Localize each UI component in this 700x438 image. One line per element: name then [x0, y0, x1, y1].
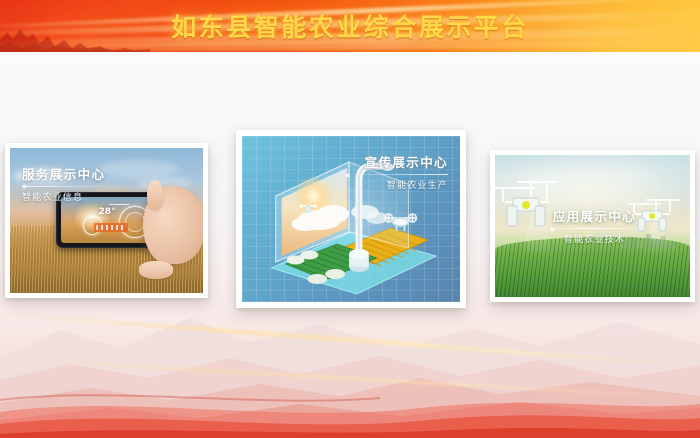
- caption-divider: [22, 186, 108, 187]
- finger-shape: [147, 180, 163, 210]
- card-application-display-center[interactable]: 应用展示中心 智能农业技术: [490, 150, 695, 302]
- card-application-caption: 应用展示中心 智能农业技术: [545, 206, 645, 245]
- caption-dot-marker: [346, 174, 349, 177]
- hud-bar-indicator: [109, 204, 129, 206]
- finger-shape: [139, 261, 173, 279]
- caption-dot-marker: [551, 228, 554, 231]
- caption-divider: [545, 228, 645, 229]
- header-banner: 如东县智能农业综合展示平台: [0, 0, 700, 52]
- card-service-art: 28° 服务展示中心 智能农业信息: [10, 148, 203, 293]
- card-application-subtitle: 智能农业技术: [545, 232, 645, 245]
- card-promotion-title: 宣传展示中心: [344, 152, 448, 171]
- card-application-title: 应用展示中心: [545, 206, 645, 225]
- red-wave-footer: [0, 378, 700, 438]
- hud-temperature-readout: 28°: [99, 207, 116, 217]
- caption-dot-marker: [23, 185, 26, 188]
- card-service-caption: 服务展示中心 智能农业信息: [22, 164, 108, 203]
- card-service-display-center[interactable]: 28° 服务展示中心 智能农业信息: [5, 143, 208, 298]
- card-promotion-subtitle: 智能农业生产: [344, 178, 448, 191]
- card-service-title: 服务展示中心: [22, 164, 108, 183]
- card-application-art: 应用展示中心 智能农业技术: [495, 155, 690, 297]
- page-root: 如东县智能农业综合展示平台: [0, 0, 700, 438]
- caption-divider: [344, 174, 448, 175]
- card-service-subtitle: 智能农业信息: [22, 190, 108, 203]
- cloud-shape: [99, 160, 179, 178]
- card-promotion-display-center[interactable]: 宣传展示中心 智能农业生产: [236, 130, 466, 308]
- page-title: 如东县智能农业综合展示平台: [0, 0, 700, 52]
- card-promotion-art: 宣传展示中心 智能农业生产: [242, 136, 460, 302]
- hud-data-strip: [94, 223, 128, 232]
- card-promotion-caption: 宣传展示中心 智能农业生产: [344, 152, 448, 191]
